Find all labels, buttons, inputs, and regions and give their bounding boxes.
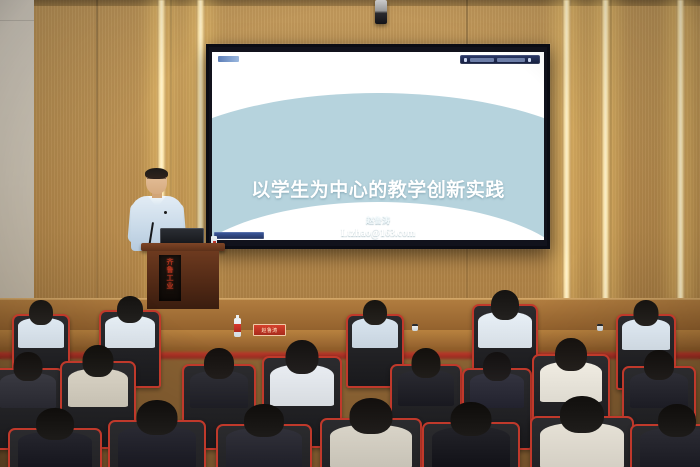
audience-member: [190, 348, 248, 408]
audience-member: [270, 340, 334, 406]
podium-plate-char: 齐: [167, 258, 174, 266]
slide-email: Ltzhao@163.com: [341, 228, 416, 239]
camera-icon: [375, 0, 387, 24]
name-card-label: 赵鲁涛: [262, 327, 278, 334]
glasses-icon: [147, 178, 166, 182]
audience-member-head: [412, 348, 441, 378]
audience-member: [622, 300, 670, 350]
wall-led-strip: [562, 0, 571, 318]
audience-member: [18, 408, 92, 467]
ceiling-edge: [0, 0, 700, 6]
slide-title: 以学生为中心的教学创新实践: [251, 175, 505, 202]
audience-member-head: [14, 352, 43, 381]
laptop-screen: [160, 228, 204, 244]
wall-led-strip: [676, 0, 685, 300]
podium-plate-char: 鲁: [167, 266, 174, 274]
podium-plate-char: 工: [167, 274, 174, 282]
audience-member-head: [560, 396, 604, 433]
audience-member: [470, 352, 524, 408]
projection-screen[interactable]: 以学生为中心的教学创新实践 赵鲁涛 Ltzhao@163.com 2023年08…: [206, 44, 550, 249]
audience-member-head: [491, 290, 519, 320]
wall-panel-seam: [610, 0, 612, 330]
audience-member: [226, 404, 302, 467]
wall-led-strip: [601, 0, 610, 318]
audience-member: [432, 402, 510, 467]
audience-member-head: [350, 398, 393, 434]
audience-member-head: [83, 345, 114, 377]
audience-member-head: [634, 300, 659, 326]
audience-member: [330, 398, 412, 467]
slide-content: 以学生为中心的教学创新实践 赵鲁涛 Ltzhao@163.com 2023年08…: [212, 52, 544, 240]
toolbar-dot-icon: [528, 58, 531, 62]
cup-icon: [412, 324, 418, 331]
audience-member: [630, 350, 688, 408]
left-plaster-wall: [0, 0, 34, 330]
audience-member-head: [204, 348, 234, 379]
audience-member: [18, 300, 64, 348]
audience-member: [105, 296, 155, 348]
audience-member-head: [36, 408, 74, 440]
audience-member: [68, 345, 128, 407]
cup-icon: [597, 324, 603, 331]
audience-member-head: [644, 350, 674, 380]
audience-member-head: [555, 338, 587, 371]
water-bottle-icon: [234, 318, 241, 337]
audience-member-head: [29, 300, 53, 325]
podium-nameplate: 齐 鲁 工 业: [159, 255, 181, 301]
slide-canvas: 以学生为中心的教学创新实践 赵鲁涛 Ltzhao@163.com 2023年08…: [212, 52, 544, 240]
toolbar-dot-icon: [464, 58, 467, 62]
audience-member: [352, 300, 398, 348]
audience-member: [540, 396, 624, 467]
audience-member: [640, 404, 700, 467]
toolbar-segment[interactable]: [470, 58, 494, 62]
toolbar-segment[interactable]: [497, 58, 525, 62]
audience-member-head: [137, 400, 178, 435]
audience-member-head: [483, 352, 511, 381]
wall-panel-seam: [96, 0, 98, 330]
lecture-hall-scene: 以学生为中心的教学创新实践 赵鲁涛 Ltzhao@163.com 2023年08…: [0, 0, 700, 467]
podium-plate-char: 业: [167, 282, 174, 290]
app-chip-icon[interactable]: [218, 56, 239, 62]
audience-member: [118, 400, 196, 467]
microphone-icon: [164, 211, 167, 214]
audience-member-head: [658, 404, 696, 437]
audience-member-head: [363, 300, 387, 325]
audience-member-head: [244, 404, 284, 437]
audience-member-head: [286, 340, 319, 374]
audience-member: [540, 338, 602, 402]
taskbar-chip[interactable]: [214, 232, 264, 239]
podium-top: [141, 243, 225, 251]
audience-member-head: [451, 402, 492, 436]
presentation-toolbar[interactable]: [460, 55, 540, 64]
audience-member: [478, 290, 532, 348]
audience-member: [0, 352, 56, 408]
name-card: 赵鲁涛: [253, 324, 286, 336]
podium-body: [147, 251, 219, 309]
podium: 齐 鲁 工 业: [145, 243, 221, 309]
slide-author: 赵鲁涛: [366, 215, 390, 226]
audience-member-head: [117, 296, 143, 323]
